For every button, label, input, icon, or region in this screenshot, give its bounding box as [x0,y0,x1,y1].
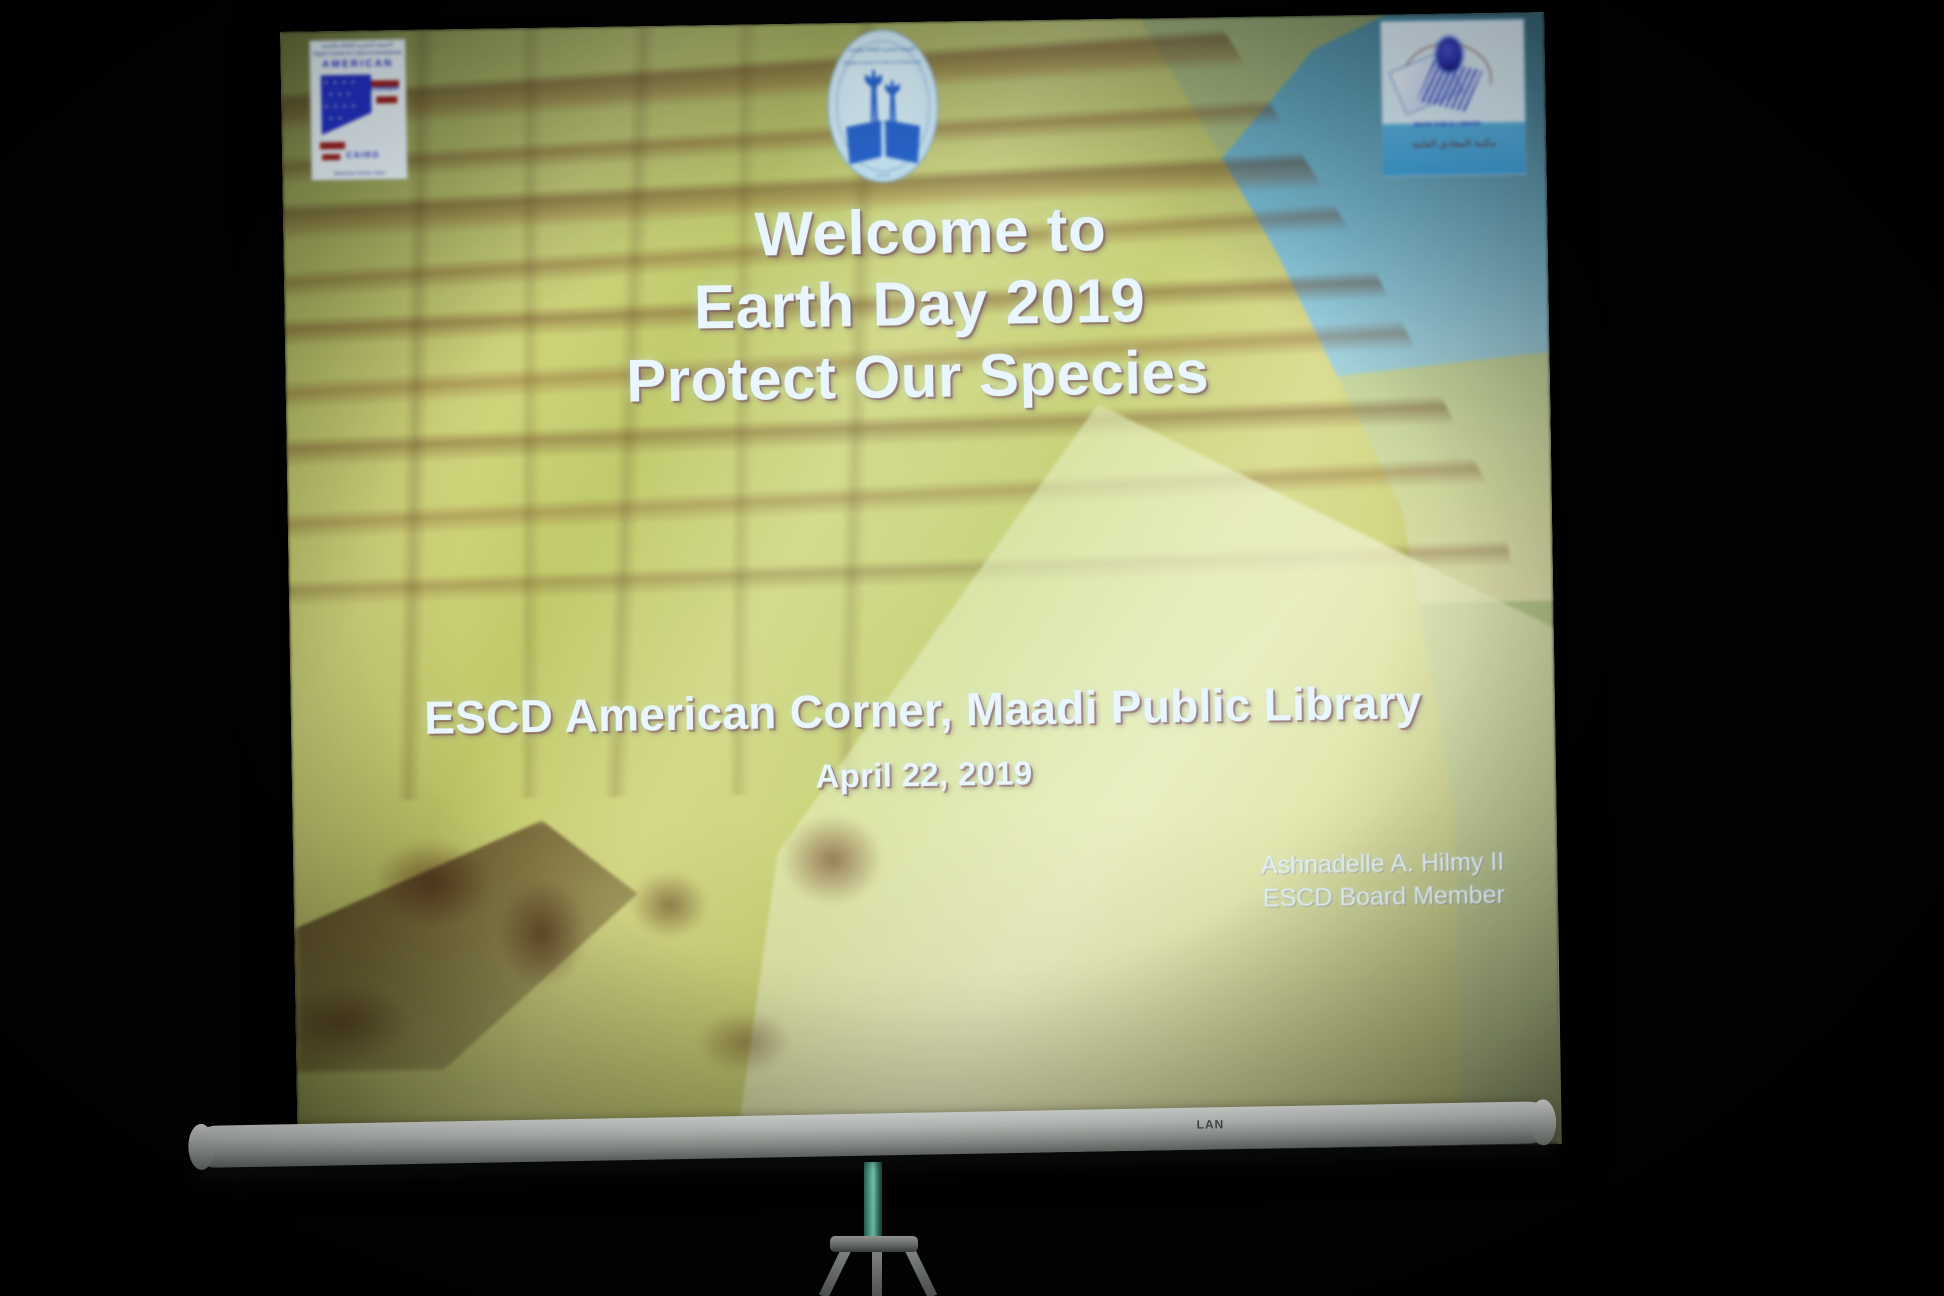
byline-presenter-role: ESCD Board Member [1261,879,1505,916]
slide-date-line: April 22, 2019 [292,746,1556,804]
slide-byline: Ashnadelle A. Hilmy II ESCD Board Member [1261,846,1505,916]
tripod-leg-center [872,1248,882,1296]
slide-title-block: Welcome to Earth Day 2019 Protect Our Sp… [283,188,1550,424]
tripod-leg-left [819,1246,852,1296]
slide-venue-line: ESCD American Corner, Maadi Public Libra… [291,673,1556,747]
tripod-leg-right [905,1246,938,1296]
tripod-hub [830,1236,918,1252]
projector-screen-assembly: الجمعية المصرية للثقافة والتنمية Egypt's… [0,0,1944,1296]
projected-slide: الجمعية المصرية للثقافة والتنمية Egypt's… [280,12,1562,1164]
bar-end-cap-right [1530,1099,1557,1145]
byline-presenter-name: Ashnadelle A. Hilmy II [1261,846,1505,883]
screenshot-stage: الجمعية المصرية للثقافة والتنمية Egypt's… [0,0,1944,1296]
screen-hardware-label: LAN [1196,1117,1224,1132]
slide-text-layer: Welcome to Earth Day 2019 Protect Our Sp… [280,12,1562,1164]
tripod-center-pole [864,1162,882,1240]
bar-end-cap-left [188,1124,215,1170]
